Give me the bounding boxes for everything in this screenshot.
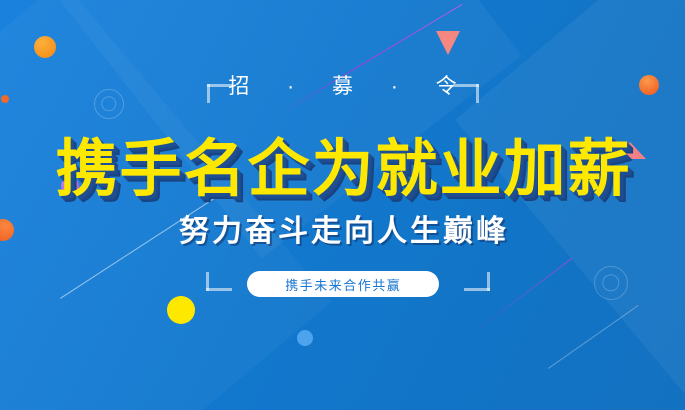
page-title: 携手名企为就业加薪 xyxy=(0,118,685,208)
cta-button[interactable]: 携手未来合作共赢 xyxy=(247,271,439,297)
subtitle-text: 努力奋斗走向人生巅峰 xyxy=(0,206,685,250)
eyebrow-text: 招 · 募 · 令 xyxy=(0,70,685,100)
cta-button-label: 携手未来合作共赢 xyxy=(284,275,402,294)
recruitment-banner: 招 · 募 · 令 携手名企为就业加薪 努力奋斗走向人生巅峰 携手未来合作共赢 xyxy=(0,0,685,410)
